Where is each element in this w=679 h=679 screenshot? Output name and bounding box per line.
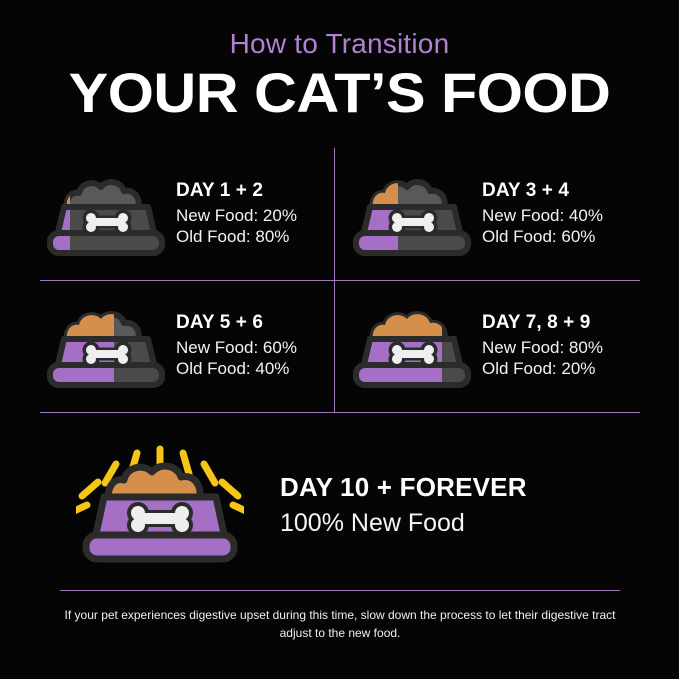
step-text-block: DAY 7, 8 + 9 New Food: 80% Old Food: 20% xyxy=(478,312,640,380)
step-new-food-line: New Food: 20% xyxy=(176,205,334,227)
pet-food-bowl-icon xyxy=(46,171,166,257)
pet-food-bowl-icon-celebration xyxy=(76,445,244,565)
step-day-label: DAY 7, 8 + 9 xyxy=(482,312,640,334)
transition-steps-grid: DAY 1 + 2 New Food: 20% Old Food: 80% xyxy=(40,148,640,412)
grid-divider-horizontal-bottom xyxy=(40,412,640,413)
infographic-poster: How to Transition YOUR CAT’S FOOD xyxy=(0,0,679,679)
step-new-food-line: New Food: 40% xyxy=(482,205,640,227)
finale-bowl-wrap xyxy=(40,445,280,565)
bowl-base xyxy=(86,535,234,559)
step-day-label: DAY 5 + 6 xyxy=(176,312,334,334)
step-day-label: DAY 3 + 4 xyxy=(482,180,640,202)
poster-header: How to Transition YOUR CAT’S FOOD xyxy=(0,30,679,123)
step-new-food-line: New Food: 80% xyxy=(482,337,640,359)
finale-text-block: DAY 10 + FOREVER 100% New Food xyxy=(280,472,640,537)
bowl-base xyxy=(46,363,162,389)
finale-subtitle: 100% New Food xyxy=(280,508,640,538)
step-text-block: DAY 5 + 6 New Food: 60% Old Food: 40% xyxy=(172,312,334,380)
bowl-icon-wrap-step-4 xyxy=(346,303,478,389)
bowl-base xyxy=(352,231,468,257)
footer-note: If your pet experiences digestive upset … xyxy=(60,606,620,642)
bowl-base xyxy=(352,363,468,389)
step-old-food-line: Old Food: 20% xyxy=(482,358,640,380)
step-old-food-line: Old Food: 60% xyxy=(482,226,640,248)
pet-food-bowl-icon xyxy=(352,171,472,257)
transition-step-day-7-8-9: DAY 7, 8 + 9 New Food: 80% Old Food: 20% xyxy=(346,280,640,412)
step-old-food-line: Old Food: 80% xyxy=(176,226,334,248)
poster-eyebrow: How to Transition xyxy=(0,30,679,58)
finale-row: DAY 10 + FOREVER 100% New Food xyxy=(40,430,640,580)
transition-step-day-3-4: DAY 3 + 4 New Food: 40% Old Food: 60% xyxy=(346,148,640,280)
step-text-block: DAY 1 + 2 New Food: 20% Old Food: 80% xyxy=(172,180,334,248)
step-text-block: DAY 3 + 4 New Food: 40% Old Food: 60% xyxy=(478,180,640,248)
bowl-icon-wrap-step-1 xyxy=(40,171,172,257)
footer-divider xyxy=(60,590,620,591)
finale-day-label: DAY 10 + FOREVER xyxy=(280,472,640,503)
bowl-base xyxy=(46,231,162,257)
pet-food-bowl-icon xyxy=(352,303,472,389)
step-old-food-line: Old Food: 40% xyxy=(176,358,334,380)
transition-step-day-1-2: DAY 1 + 2 New Food: 20% Old Food: 80% xyxy=(40,148,334,280)
transition-step-day-5-6: DAY 5 + 6 New Food: 60% Old Food: 40% xyxy=(40,280,334,412)
pet-food-bowl-icon xyxy=(46,303,166,389)
step-new-food-line: New Food: 60% xyxy=(176,337,334,359)
step-day-label: DAY 1 + 2 xyxy=(176,180,334,202)
bowl-icon-wrap-step-3 xyxy=(40,303,172,389)
poster-title: YOUR CAT’S FOOD xyxy=(0,64,679,123)
bowl-icon-wrap-step-2 xyxy=(346,171,478,257)
